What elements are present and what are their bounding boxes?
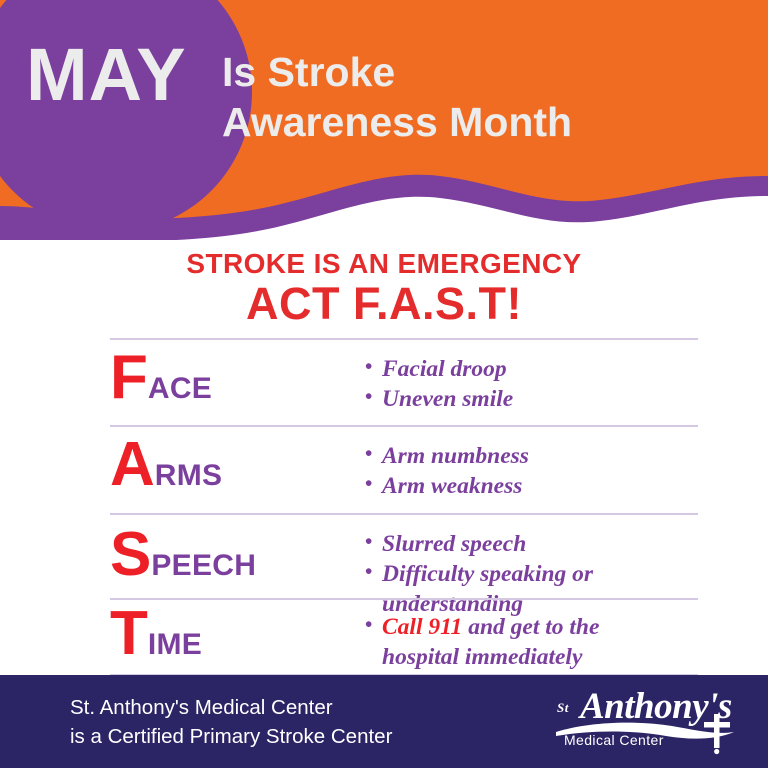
fast-bullets-face: Facial droop Uneven smile bbox=[365, 340, 698, 414]
list-item: Uneven smile bbox=[365, 384, 698, 414]
list-item: Arm weakness bbox=[365, 471, 698, 501]
logo-prefix: St bbox=[557, 700, 569, 716]
list-item-continuation: hospital immediately bbox=[365, 642, 698, 672]
fast-row-time: T IME Call 911 and get to the hospital i… bbox=[110, 598, 698, 676]
fast-word-arms: A RMS bbox=[110, 427, 365, 489]
fast-row-face: F ACE Facial droop Uneven smile bbox=[110, 338, 698, 425]
fast-initial-t: T bbox=[110, 610, 148, 658]
list-item-text: and get to the bbox=[462, 614, 599, 640]
footer-tagline: St. Anthony's Medical Center is a Certif… bbox=[70, 693, 392, 751]
fast-word-time: T IME bbox=[110, 600, 365, 658]
header-banner: MAY Is Stroke Awareness Month bbox=[0, 0, 768, 250]
logo-subtitle: Medical Center bbox=[564, 732, 664, 748]
logo-name: Anthony's bbox=[580, 688, 732, 725]
list-item: Arm numbness bbox=[365, 441, 698, 471]
emergency-eyebrow: STROKE IS AN EMERGENCY bbox=[0, 248, 768, 280]
main-content: STROKE IS AN EMERGENCY ACT F.A.S.T! F AC… bbox=[0, 240, 768, 675]
fast-rest-arms: RMS bbox=[155, 464, 223, 487]
fast-word-speech: S PEECH bbox=[110, 515, 365, 579]
act-fast-headline: ACT F.A.S.T! bbox=[0, 278, 768, 330]
list-item: Difficulty speaking or bbox=[365, 559, 698, 589]
footer-bar: St. Anthony's Medical Center is a Certif… bbox=[0, 675, 768, 768]
footer-line-1: St. Anthony's Medical Center bbox=[70, 693, 392, 722]
fast-rest-time: IME bbox=[148, 633, 202, 656]
fast-acronym-list: F ACE Facial droop Uneven smile A RMS Ar… bbox=[110, 338, 698, 676]
fast-rest-speech: PEECH bbox=[151, 554, 256, 577]
month-label: MAY bbox=[26, 38, 187, 112]
list-item: Call 911 and get to the bbox=[365, 612, 698, 642]
fast-row-speech: S PEECH Slurred speech Difficulty speaki… bbox=[110, 513, 698, 598]
fast-initial-s: S bbox=[110, 531, 151, 579]
stroke-awareness-poster: MAY Is Stroke Awareness Month STROKE IS … bbox=[0, 0, 768, 768]
fast-word-face: F ACE bbox=[110, 340, 365, 402]
fast-initial-a: A bbox=[110, 441, 155, 489]
header-line-1: Is Stroke bbox=[222, 50, 395, 94]
list-item: Slurred speech bbox=[365, 529, 698, 559]
list-item: Facial droop bbox=[365, 354, 698, 384]
header-line-2: Awareness Month bbox=[222, 100, 572, 144]
fast-initial-f: F bbox=[110, 354, 148, 402]
fast-rest-face: ACE bbox=[148, 377, 212, 400]
fast-bullets-arms: Arm numbness Arm weakness bbox=[365, 427, 698, 501]
fast-row-arms: A RMS Arm numbness Arm weakness bbox=[110, 425, 698, 513]
footer-line-2: is a Certified Primary Stroke Center bbox=[70, 722, 392, 751]
fast-bullets-time: Call 911 and get to the hospital immedia… bbox=[365, 600, 698, 672]
call-911-emphasis: Call 911 bbox=[382, 614, 462, 640]
st-anthonys-logo: St Anthony's Medical Center bbox=[548, 688, 744, 756]
